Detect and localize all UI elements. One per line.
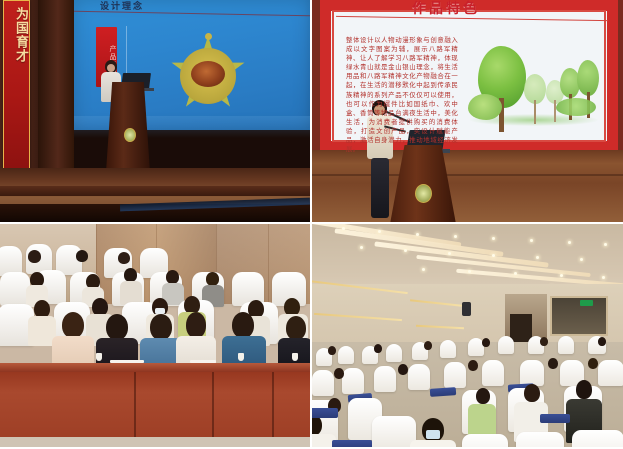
star-badge-emblem [170, 36, 246, 112]
seat-cushion [430, 387, 456, 397]
judge-head [186, 312, 206, 338]
tree-crown [577, 60, 599, 96]
slide-title-2: 作品特色 [412, 0, 480, 18]
judge-head [62, 312, 84, 338]
audience-head [206, 272, 219, 286]
ceiling-downlight [454, 235, 457, 238]
audience-head [118, 252, 130, 264]
audience-rows [0, 254, 310, 364]
banner-text: 为国育才 [4, 7, 29, 63]
audience-head [166, 270, 179, 284]
photo-panel-top-right: 作品特色 整体设计以人物动漫形象与创意融入成以文字图案为辅，展示八路军精神、让人… [312, 0, 623, 222]
podium-emblem-icon-2 [415, 184, 432, 203]
floor-strip [0, 437, 310, 447]
table-seam [134, 372, 136, 447]
face-mask [426, 430, 440, 439]
ceiling-downlight [342, 227, 345, 230]
audience-head [524, 384, 540, 402]
audience-head [328, 346, 336, 355]
presenter-face [107, 64, 115, 72]
stage-edge-line-2 [312, 174, 623, 176]
audience-head [482, 338, 490, 347]
water-cup [292, 353, 298, 361]
ceiling-downlight [468, 270, 471, 273]
table-seam [212, 372, 214, 447]
ceiling-downlight [492, 237, 495, 240]
audience-head [398, 364, 408, 375]
seat-cushion [312, 408, 338, 418]
water-cup [238, 353, 244, 361]
chair-cover [342, 368, 364, 394]
audience-head [334, 368, 344, 379]
ceiling-downlight [378, 230, 381, 233]
red-vertical-banner: 为国育才 [3, 0, 30, 170]
auditorium-seating-area [312, 342, 623, 447]
water-cup [96, 353, 102, 361]
chair-cover [598, 360, 623, 386]
photo-collage: 为国育才 设计理念 产品说明 [0, 0, 623, 449]
ceiling-downlight [514, 272, 517, 275]
tree-bush-left [468, 94, 502, 120]
judge-head [286, 316, 306, 340]
judge-head [232, 312, 254, 338]
chair-cover [312, 370, 334, 396]
chair-cover [374, 366, 396, 392]
table-seam [272, 372, 274, 447]
photo-panel-bottom-right [312, 224, 623, 447]
chair-cover [498, 336, 514, 354]
wall-speaker [462, 302, 471, 316]
stage-floor-2 [312, 150, 623, 222]
ceiling-downlight [422, 268, 425, 271]
photo-panel-top-left: 为国育才 设计理念 产品说明 [0, 0, 310, 222]
chair-cover [558, 336, 574, 354]
presenter-trousers [371, 158, 389, 218]
photo-panel-bottom-left [0, 224, 310, 447]
judge-head [150, 314, 172, 340]
chair-cover [408, 364, 430, 390]
ceiling-downlight [568, 241, 571, 244]
chair-cover [372, 416, 416, 447]
slide-title: 设计理念 [100, 0, 144, 12]
audience-head [588, 358, 598, 369]
chair-cover [462, 434, 508, 447]
audience-head [424, 341, 432, 350]
ceiling-downlight [560, 274, 563, 277]
chair-cover [338, 346, 354, 364]
ceiling-downlight [360, 246, 363, 249]
seat-cushion [540, 414, 570, 423]
audience-torso [468, 404, 496, 438]
judge-head [106, 314, 128, 340]
podium-emblem-icon [124, 128, 136, 142]
control-room-window [550, 296, 608, 336]
ceiling-downlight [602, 276, 605, 279]
tree-bush-right [556, 98, 596, 116]
ceiling-downlight [580, 258, 583, 261]
chair-cover [386, 344, 402, 362]
audience-head [76, 250, 88, 262]
audience-head [548, 358, 558, 369]
audience-head [540, 337, 548, 346]
chair-cover [440, 340, 456, 358]
ceiling-downlight [536, 256, 539, 259]
chair-cover [482, 360, 504, 386]
chair-cover [444, 362, 466, 388]
tree-trunk [554, 100, 556, 122]
audience-head [374, 344, 382, 353]
star-center-photo [191, 61, 225, 87]
audience-head [468, 360, 478, 371]
ceiling-downlight [492, 254, 495, 257]
star-top-knob [205, 33, 212, 40]
audience-head [576, 380, 592, 399]
tree-trunk [534, 100, 536, 124]
audience-head [124, 268, 137, 282]
ceiling-downlight [416, 233, 419, 236]
audience-head [28, 250, 41, 263]
judges-table [0, 363, 310, 447]
slide-divider-line [74, 11, 310, 17]
chair-cover [520, 360, 544, 386]
screen-vignette [304, 0, 310, 128]
watercolor-tree-illustration [464, 42, 604, 132]
ceiling-downlight [530, 239, 533, 242]
slide-body-text: 整体设计以人物动漫形象与创意融入成以文字图案为辅，展示八路军精神、让人了解学习八… [346, 36, 458, 154]
ceiling-downlight [404, 249, 407, 252]
table-top-edge [0, 363, 310, 372]
podium [106, 82, 150, 172]
seat-cushion [332, 440, 372, 447]
ceiling-light-strip [334, 228, 503, 257]
ceiling-downlight [604, 243, 607, 246]
stage-step [0, 186, 310, 196]
audience-torso [410, 440, 456, 447]
ceiling-downlight [448, 252, 451, 255]
exit-sign-icon [580, 300, 593, 306]
chair-cover [572, 430, 623, 447]
audience-head [598, 337, 606, 346]
chair-cover [516, 432, 564, 447]
audience-head [476, 388, 490, 404]
